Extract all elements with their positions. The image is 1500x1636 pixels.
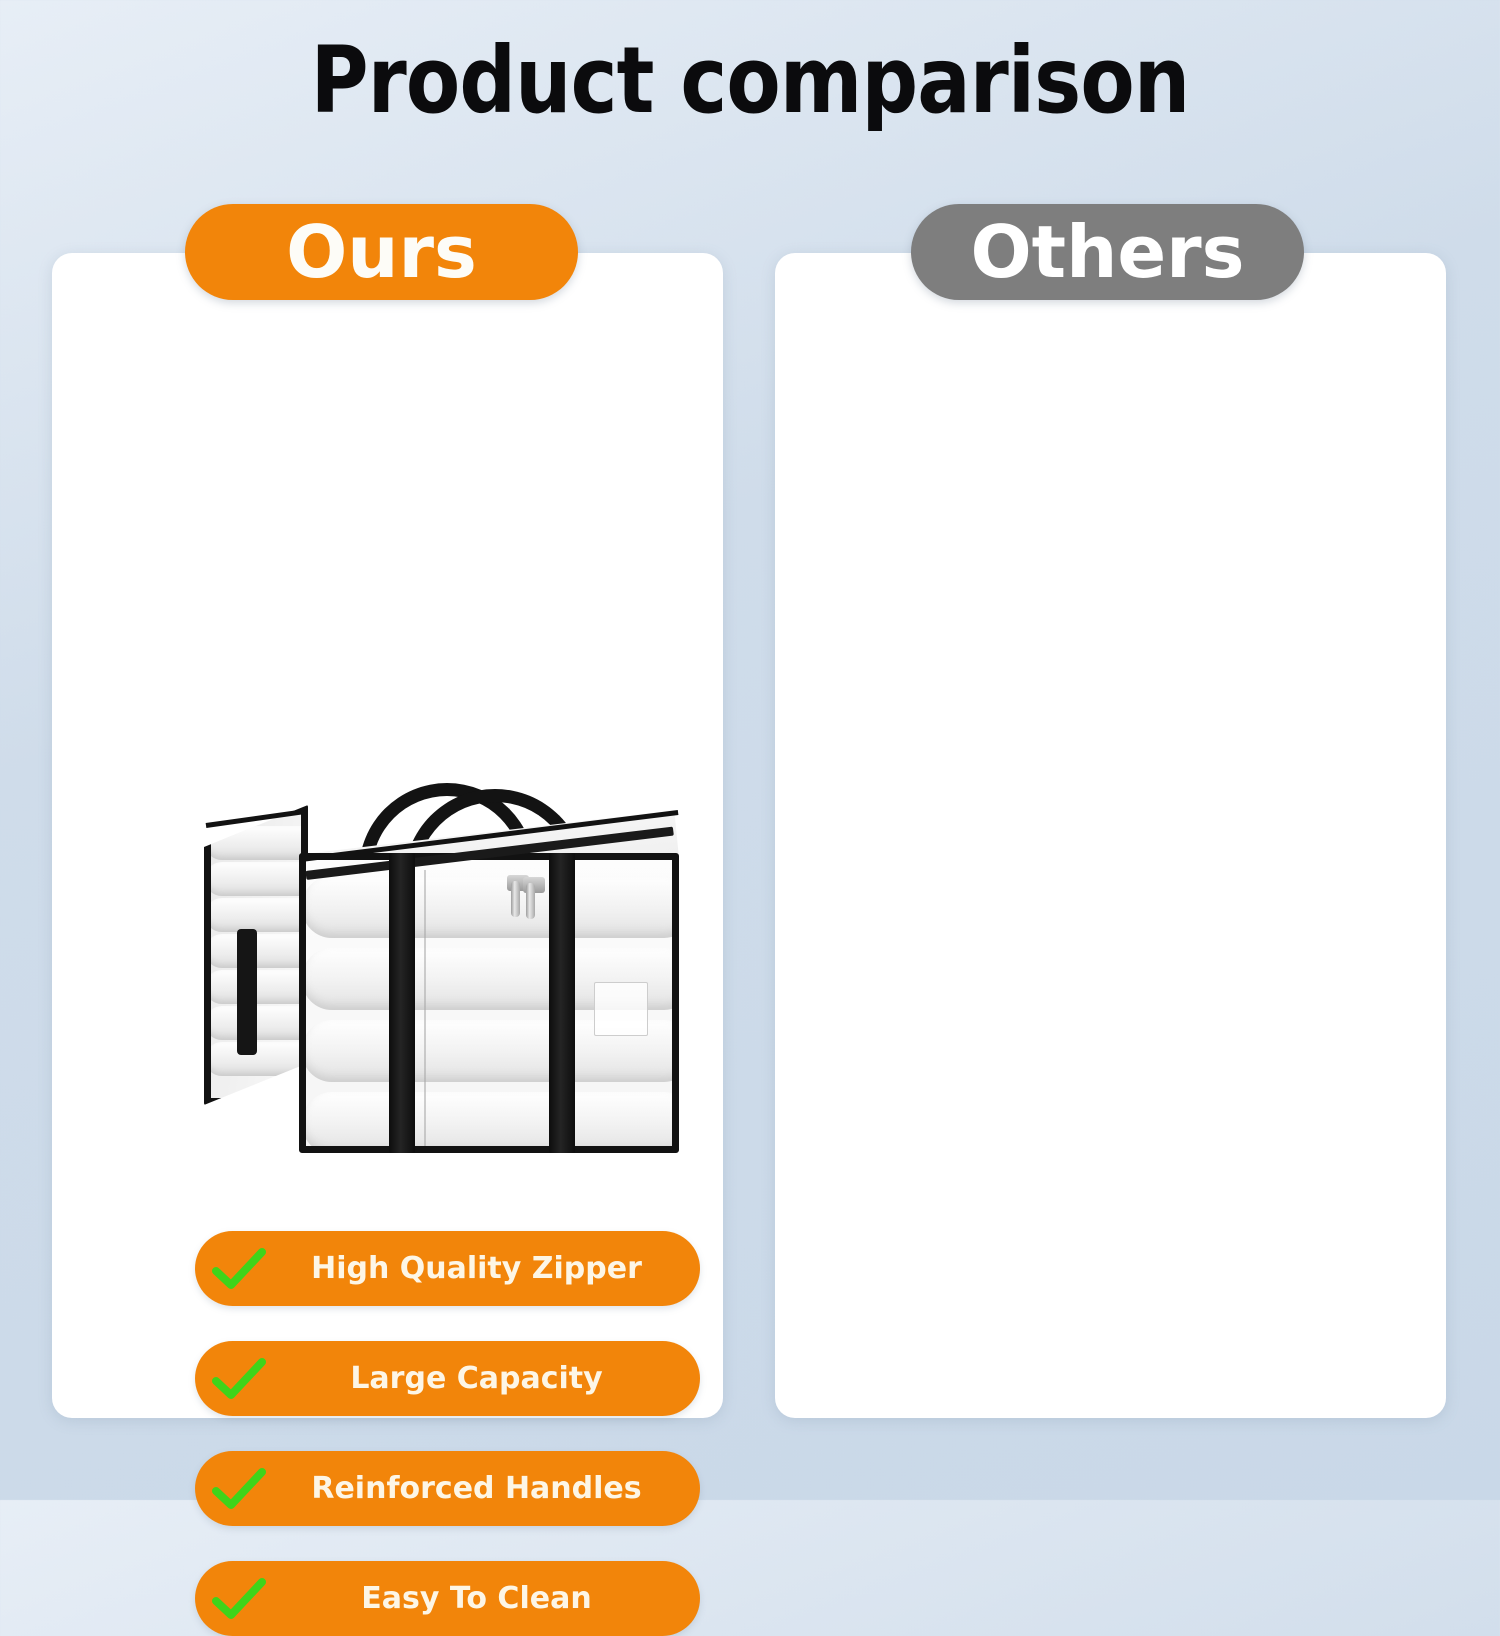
feature-list-ours: High Quality Zipper Large Capacity Reinf… bbox=[195, 1231, 700, 1636]
bag-webbing-strap-right bbox=[549, 853, 575, 1153]
badge-others-label: Others bbox=[970, 216, 1244, 288]
bag-side-handle bbox=[237, 929, 257, 1055]
bag-zipper-pull-2 bbox=[526, 883, 535, 919]
bag-zipper-pull-1 bbox=[511, 881, 520, 917]
badge-ours[interactable]: Ours bbox=[185, 204, 578, 300]
badge-ours-label: Ours bbox=[286, 216, 477, 288]
comparison-card-others: Poor Quality Zipper Low Capacily Weak Ha… bbox=[775, 253, 1446, 1418]
feature-pill[interactable]: Large Capacity bbox=[195, 1341, 700, 1416]
bag-label-patch bbox=[594, 982, 648, 1036]
bag-webbing-strap-left bbox=[389, 853, 415, 1153]
feature-pill[interactable]: Easy To Clean bbox=[195, 1561, 700, 1636]
feature-label: High Quality Zipper bbox=[195, 1252, 700, 1286]
feature-label: Reinforced Handles bbox=[195, 1472, 700, 1506]
badge-others[interactable]: Others bbox=[911, 204, 1304, 300]
clear-storage-bag-illustration bbox=[199, 783, 679, 1163]
bag-front-panel bbox=[299, 853, 679, 1153]
check-icon bbox=[211, 1571, 267, 1627]
check-icon bbox=[211, 1351, 267, 1407]
product-image-ours bbox=[104, 553, 775, 1193]
comparison-card-ours: High Quality Zipper Large Capacity Reinf… bbox=[52, 253, 723, 1418]
check-icon bbox=[211, 1461, 267, 1517]
page-title: Product comparison bbox=[105, 26, 1395, 136]
feature-pill[interactable]: Reinforced Handles bbox=[195, 1451, 700, 1526]
feature-label: Easy To Clean bbox=[195, 1582, 700, 1616]
feature-label: Large Capacity bbox=[195, 1362, 700, 1396]
feature-pill[interactable]: High Quality Zipper bbox=[195, 1231, 700, 1306]
check-icon bbox=[211, 1241, 267, 1297]
